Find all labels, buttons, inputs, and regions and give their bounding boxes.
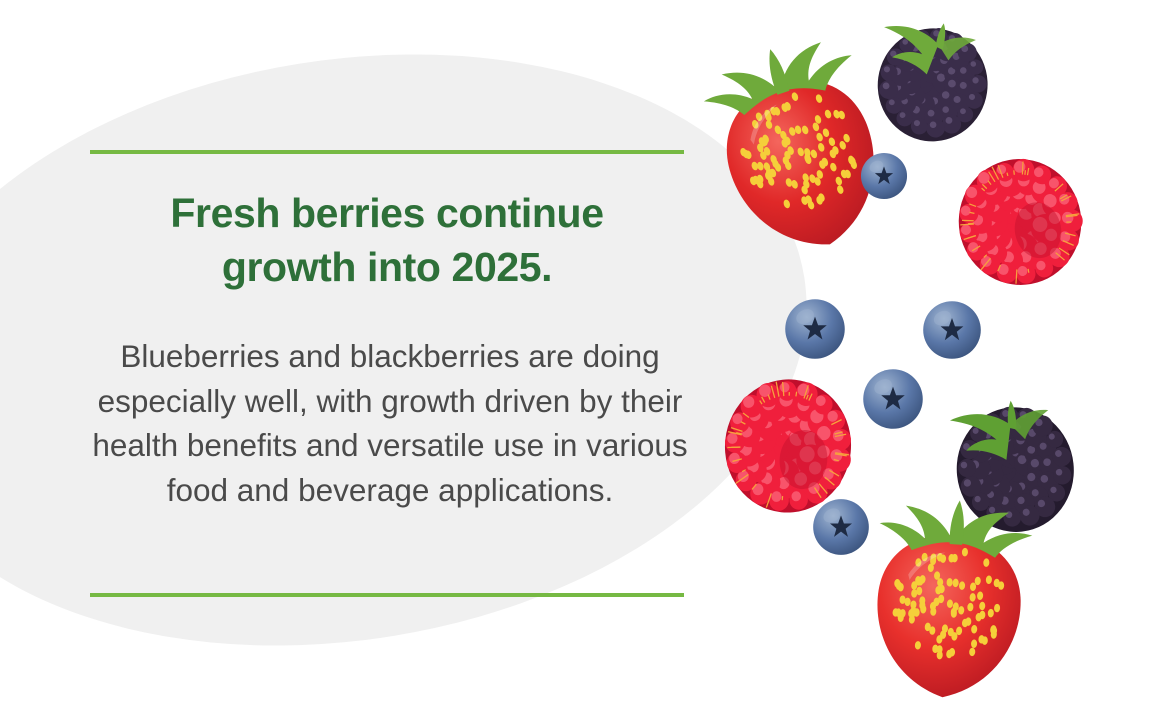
- berry-cluster: [700, 0, 1152, 726]
- blueberry-icon: [812, 498, 870, 556]
- strawberry-icon: [853, 494, 1045, 714]
- body-paragraph: Blueberries and blackberries are doing e…: [90, 334, 690, 513]
- blueberry-icon: [922, 300, 982, 360]
- blueberry-icon: [784, 298, 846, 360]
- blueberry-icon: [860, 152, 908, 200]
- blackberry-icon: [864, 12, 1002, 153]
- page-title: Fresh berries continue growth into 2025.: [90, 186, 684, 294]
- blueberry-icon: [862, 368, 924, 430]
- divider-rule-top: [90, 150, 684, 154]
- divider-rule-bottom: [90, 593, 684, 597]
- promo-graphic: Fresh berries continue growth into 2025.…: [0, 0, 1152, 726]
- raspberry-icon: [941, 141, 1099, 302]
- text-block: Fresh berries continue growth into 2025.…: [0, 0, 700, 726]
